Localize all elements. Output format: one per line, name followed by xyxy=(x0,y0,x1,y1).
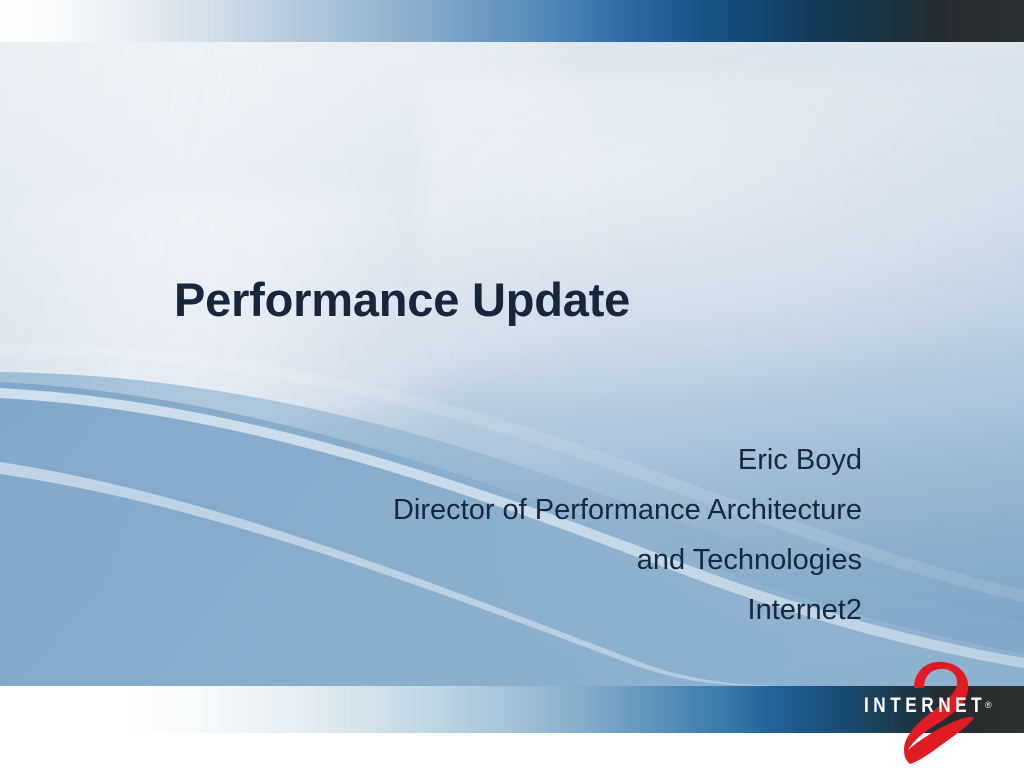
logo-wordmark: INTERNET xyxy=(864,694,986,718)
logo-registered-mark: ® xyxy=(985,700,992,710)
internet2-logo: INTERNET ® xyxy=(858,660,1008,768)
presenter-organization: Internet2 xyxy=(222,585,862,635)
presenter-title-line-1: Director of Performance Architecture xyxy=(222,485,862,535)
top-gradient-band xyxy=(0,0,1024,42)
presenter-title-line-2: and Technologies xyxy=(222,535,862,585)
presenter-block: Eric Boyd Director of Performance Archit… xyxy=(222,435,862,635)
background-highlight-upper-right xyxy=(420,72,1024,432)
presenter-name: Eric Boyd xyxy=(222,435,862,485)
slide-title: Performance Update xyxy=(174,272,630,327)
presentation-slide: Performance Update Eric Boyd Director of… xyxy=(0,0,1024,768)
